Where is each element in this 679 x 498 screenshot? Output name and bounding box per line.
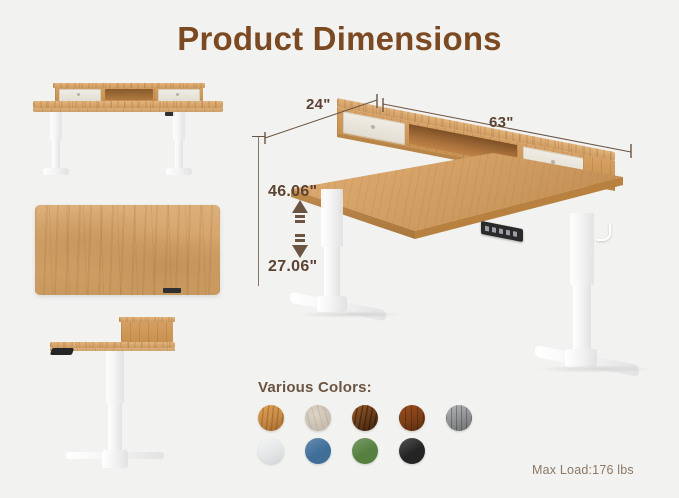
color-swatch-white[interactable] <box>258 438 284 464</box>
color-swatch-row-top <box>258 405 458 433</box>
page-title: Product Dimensions <box>0 20 679 58</box>
height-max-label: 46.06" <box>268 183 317 201</box>
height-min-label: 27.06" <box>268 258 317 276</box>
thumbnail-front-view <box>25 70 230 195</box>
height-reference-tick <box>252 136 265 137</box>
color-swatch-walnut[interactable] <box>399 405 425 431</box>
height-reference-line <box>258 136 259 286</box>
color-swatch-row-bottom <box>258 438 458 466</box>
color-swatch-dark-rustic[interactable] <box>352 405 378 431</box>
infographic-canvas: Product Dimensions <box>0 0 679 498</box>
hook-icon <box>597 223 611 241</box>
color-swatch-black[interactable] <box>399 438 425 464</box>
thumbnail-side-view <box>38 310 208 475</box>
width-dimension-line <box>375 96 645 168</box>
color-swatch-grey-wood[interactable] <box>446 405 472 431</box>
color-swatch-greige[interactable] <box>305 405 331 431</box>
color-swatch-rustic-oak[interactable] <box>258 405 284 431</box>
various-colors-label: Various Colors: <box>258 379 372 396</box>
max-load-label: Max Load:176 lbs <box>532 463 634 477</box>
height-range-arrow <box>289 200 311 258</box>
thumbnail-top-view <box>35 205 225 300</box>
color-swatch-green[interactable] <box>352 438 378 464</box>
depth-label: 24" <box>306 96 331 113</box>
width-label: 63" <box>489 114 514 131</box>
color-swatch-blue[interactable] <box>305 438 331 464</box>
